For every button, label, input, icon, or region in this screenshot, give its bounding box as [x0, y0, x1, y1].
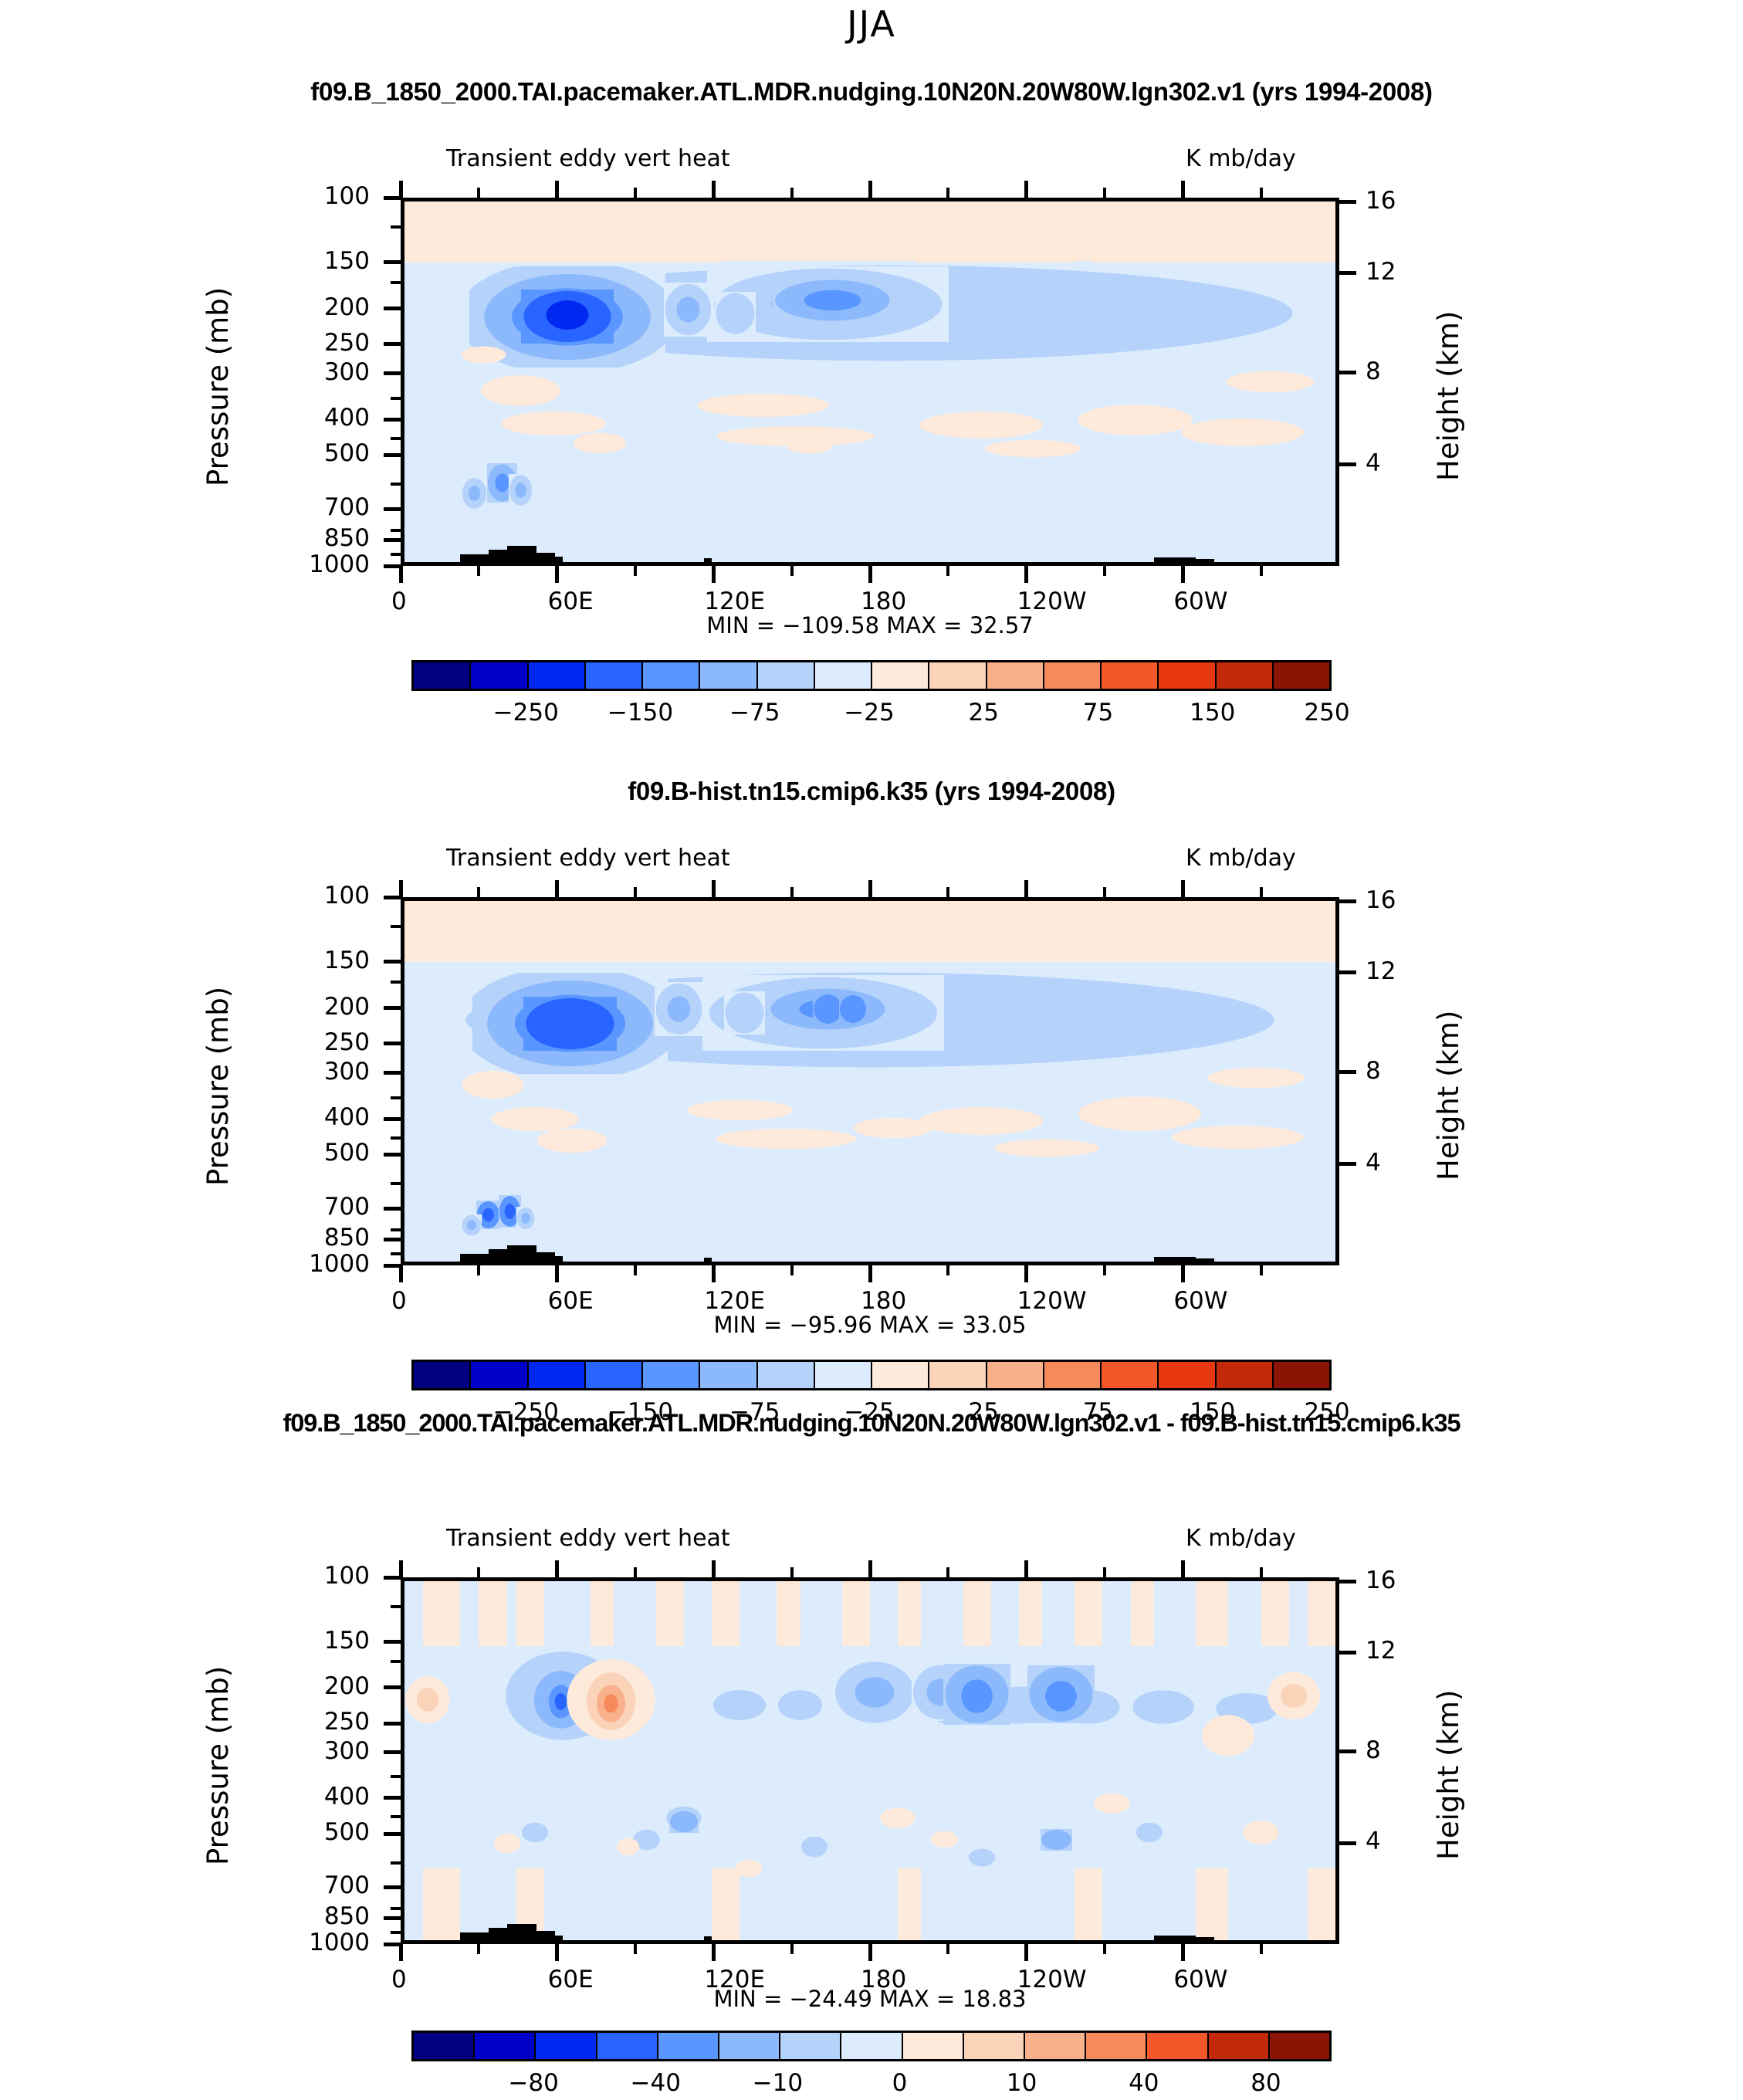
y-axis-tick-right	[1339, 1749, 1356, 1753]
y-axis-minor-tick-left	[391, 925, 401, 928]
y-axis-label-left: 500	[239, 439, 370, 467]
colorbar-tick-label: −75	[729, 699, 780, 727]
colorbar-segment	[964, 2033, 1025, 2059]
x-axis-tick-top	[1181, 880, 1185, 897]
y-axis-label-left: 1000	[239, 1250, 370, 1278]
x-axis-tick-bottom	[399, 1265, 403, 1282]
y-axis-label-left: 200	[239, 1672, 370, 1700]
contour-blob	[833, 1660, 917, 1725]
colorbar-tick-label: −40	[631, 2069, 681, 2097]
y-axis-tick-left	[384, 1238, 401, 1241]
x-axis-minor-tick-bottom	[634, 1265, 637, 1275]
colorbar-segment	[815, 662, 872, 689]
y-axis-minor-tick-left	[391, 225, 401, 229]
y-axis-tick-left	[384, 307, 401, 310]
y-axis-label-left: 400	[239, 1103, 370, 1131]
y-axis-label-left: 100	[239, 1562, 370, 1590]
x-axis-tick-bottom	[1181, 566, 1185, 583]
x-axis-tick-top	[868, 880, 872, 897]
x-axis-tick-bottom	[555, 1265, 559, 1282]
y-axis-label-left: 150	[239, 1627, 370, 1655]
x-axis-tick-top	[868, 181, 872, 198]
y-axis-tick-left	[384, 1750, 401, 1754]
contour-blob	[535, 1128, 609, 1153]
contour-blob	[786, 439, 832, 454]
x-axis-minor-tick-top	[946, 188, 949, 198]
y-axis-tick-right	[1339, 1162, 1356, 1166]
x-axis-tick-top	[555, 880, 559, 897]
y-axis-tick-right	[1339, 1580, 1356, 1583]
y-axis-tick-right	[1339, 1651, 1356, 1655]
x-axis-minor-tick-bottom	[477, 1944, 480, 1954]
x-axis-minor-tick-bottom	[946, 1944, 949, 1954]
contour-blob	[462, 1214, 482, 1236]
contour-blob	[479, 374, 563, 407]
x-axis-minor-tick-top	[1103, 1567, 1106, 1577]
y-axis-minor-tick-left	[391, 1907, 401, 1910]
y-axis-tick-right	[1339, 462, 1356, 466]
y-axis-tick-left	[384, 342, 401, 346]
colorbar-tick-label: 10	[1007, 2069, 1037, 2097]
x-axis-tick-top	[868, 1560, 872, 1577]
x-axis-tick-top	[1181, 1560, 1185, 1577]
x-axis-minor-tick	[1260, 1567, 1263, 1577]
y-axis-label-left: 1000	[239, 1929, 370, 1956]
topography-mask	[555, 1256, 563, 1262]
y-axis-label-right: 12	[1366, 957, 1396, 985]
colorbar-segment	[414, 662, 471, 689]
colorbar-tick-label: −150	[608, 699, 673, 727]
topography-mask	[536, 1252, 555, 1262]
contour-blob	[1093, 1793, 1130, 1814]
colorbar-segment	[1159, 1362, 1216, 1388]
colorbar-tick-label: −250	[493, 699, 559, 727]
x-axis-minor-tick-top	[946, 1567, 949, 1577]
colorbar-segment	[1217, 1362, 1274, 1388]
colorbar-segment	[780, 2033, 841, 2059]
colorbar-segment	[1044, 662, 1102, 689]
y-axis-label-left: 150	[239, 947, 370, 974]
x-axis-tick-bottom	[399, 1944, 403, 1961]
colorbar-segment	[700, 1362, 757, 1388]
colorbar-segment	[529, 1362, 586, 1388]
contour-blob	[523, 997, 617, 1051]
x-axis-tick-bottom	[555, 566, 559, 583]
y-axis-label-left: 700	[239, 1193, 370, 1221]
colorbar-segment	[586, 662, 643, 689]
colorbar-segment	[1274, 662, 1329, 689]
colorbar-tick-label: −25	[844, 699, 894, 727]
colorbar-labels-1: −250−150−75−252575150250	[411, 699, 1327, 730]
y-axis-tick-left	[384, 1796, 401, 1800]
colorbar-tick-label: −80	[508, 2069, 558, 2097]
min-max-annotation-1: MIN = −109.58 MAX = 32.57	[401, 612, 1339, 638]
x-axis-minor-tick-bottom	[477, 566, 480, 576]
x-axis-minor-tick-bottom	[1103, 566, 1106, 576]
x-axis-tick-bottom	[868, 1265, 872, 1282]
y-axis-label-right: 4	[1366, 1149, 1381, 1177]
x-axis-minor-tick-top	[477, 188, 480, 198]
plot-area-1[interactable]	[401, 198, 1339, 566]
colorbar-segment	[872, 662, 929, 689]
colorbar-tick-label: 75	[1083, 699, 1113, 727]
x-axis-label: 120W	[1017, 588, 1087, 615]
topography-mask	[1154, 1936, 1196, 1940]
contour-blob	[572, 432, 628, 454]
x-axis-tick-bottom	[712, 566, 716, 583]
x-axis-tick-bottom	[712, 1944, 716, 1961]
y-axis-tick-left	[384, 453, 401, 457]
contour-blob	[493, 1833, 521, 1854]
contour-blob	[1131, 1689, 1196, 1726]
x-axis-minor-tick-top	[634, 188, 637, 198]
y-axis-tick-left	[384, 418, 401, 422]
plot-area-2[interactable]	[401, 897, 1339, 1265]
x-axis-minor-tick-top	[790, 188, 794, 198]
x-axis-tick-bottom	[1024, 1265, 1028, 1282]
colorbar-segment	[1209, 2033, 1270, 2059]
y-axis-label-right: 4	[1366, 1827, 1381, 1855]
topography-mask	[704, 1936, 712, 1940]
x-axis-label: 60W	[1173, 1287, 1227, 1315]
colorbar-tick-label: 0	[892, 2069, 908, 2097]
contour-blob	[800, 1836, 828, 1858]
x-axis-minor-tick-top	[1103, 188, 1106, 198]
y-axis-tick-right	[1339, 1841, 1356, 1845]
x-axis-tick-top	[1024, 1560, 1028, 1577]
x-axis-tick-top	[555, 1560, 559, 1577]
y-axis-label-left: 300	[239, 1058, 370, 1086]
y-axis-label-left: 700	[239, 1871, 370, 1899]
y-axis-tick-left	[384, 1117, 401, 1121]
y-axis-label-right: 4	[1366, 449, 1381, 477]
x-axis-minor-tick-bottom	[1103, 1265, 1106, 1275]
y-axis-tick-left	[384, 1153, 401, 1157]
x-axis-minor-tick-top	[790, 887, 794, 897]
contour-band	[404, 901, 1335, 964]
topography-mask	[460, 1254, 488, 1262]
contour-blob	[404, 1675, 451, 1725]
y-axis-label-left: 500	[239, 1818, 370, 1846]
x-axis-label: 120W	[1017, 1287, 1087, 1315]
topography-mask	[489, 1249, 507, 1262]
y-axis-tick-right	[1339, 371, 1356, 374]
y-axis-label-left: 100	[239, 882, 370, 909]
y-axis-label-left: 1000	[239, 550, 370, 578]
x-axis-minor-tick-top	[634, 1567, 637, 1577]
x-axis-minor-tick-bottom	[1103, 1944, 1106, 1954]
panel-title-3: f09.B_1850_2000.TAI.pacemaker.ATL.MDR.nu…	[0, 1409, 1743, 1438]
x-axis-tick-top	[712, 181, 716, 198]
y-axis-label-left: 100	[239, 182, 370, 210]
x-axis-minor-tick-bottom	[790, 566, 794, 576]
y-axis-label-left: 850	[239, 1902, 370, 1930]
x-axis-tick-top	[1181, 181, 1185, 198]
contour-blob	[712, 1689, 767, 1722]
y-axis-tick-left	[384, 1685, 401, 1689]
colorbar-2[interactable]	[411, 1360, 1332, 1390]
contour-blob	[991, 1139, 1103, 1157]
x-axis-label: 180	[861, 588, 906, 615]
colorbar-segment	[1147, 2033, 1208, 2059]
contour-blob	[879, 1807, 916, 1829]
colorbar-segment	[815, 1362, 872, 1388]
panel-title-1: f09.B_1850_2000.TAI.pacemaker.ATL.MDR.nu…	[0, 77, 1743, 107]
colorbar-segment	[1217, 662, 1274, 689]
y-axis-minor-tick-left	[391, 553, 401, 556]
colorbar-segment	[529, 662, 586, 689]
x-axis-minor-tick	[1260, 188, 1263, 198]
x-axis-label: 120E	[704, 1287, 765, 1315]
season-title: JJA	[0, 3, 1743, 45]
colorbar-segment	[872, 1362, 929, 1388]
y-axis-minor-tick-left	[391, 1228, 401, 1231]
x-axis-minor-tick-bottom	[790, 1265, 794, 1275]
y-axis-minor-tick-left	[391, 1815, 401, 1818]
x-axis-minor-tick-bottom	[790, 1944, 794, 1954]
colorbar-segment	[586, 1362, 643, 1388]
y-axis-label-left: 150	[239, 247, 370, 275]
units-label-1: K mb/day	[1186, 145, 1296, 172]
x-axis-label: 60W	[1173, 588, 1227, 615]
x-axis-minor-tick-top	[1103, 887, 1106, 897]
y-axis-tick-left	[384, 1042, 401, 1045]
units-label-3: K mb/day	[1186, 1525, 1296, 1552]
y-axis-minor-tick-left	[391, 1252, 401, 1255]
y-axis-tick-right	[1339, 899, 1356, 903]
x-axis-tick-bottom	[868, 1944, 872, 1961]
topography-mask	[704, 558, 712, 562]
topography-mask	[555, 1936, 563, 1941]
y-axis-tick-left	[384, 1006, 401, 1010]
x-axis-tick-top	[399, 181, 403, 198]
contour-blob	[616, 1837, 640, 1855]
y-axis-label-left: 200	[239, 293, 370, 321]
topography-mask	[507, 1924, 537, 1940]
y-axis-tick-left	[384, 260, 401, 264]
contour-blob	[1041, 1829, 1072, 1851]
colorbar-segment	[475, 2033, 536, 2059]
x-axis-minor-tick-bottom	[946, 566, 949, 576]
colorbar-tick-label: −10	[753, 2069, 803, 2097]
y-axis-minor-tick-left	[391, 483, 401, 486]
y-axis-label-right: 16	[1366, 1567, 1396, 1594]
plot-area-3[interactable]	[401, 1577, 1339, 1944]
x-axis-tick-top	[1024, 880, 1028, 897]
x-axis-minor-tick	[1260, 566, 1263, 576]
x-axis-tick-bottom	[1024, 566, 1028, 583]
topography-mask	[507, 546, 537, 562]
y-axis-label-left: 250	[239, 1708, 370, 1736]
contour-blob	[1242, 1820, 1279, 1845]
y-axis-minor-tick-left	[391, 281, 401, 284]
colorbar-segment	[1102, 1362, 1159, 1388]
colorbar-segment	[414, 1362, 471, 1388]
x-axis-label: 180	[861, 1287, 906, 1315]
y-axis-minor-tick-left	[391, 1861, 401, 1865]
contour-blob	[712, 1128, 861, 1150]
colorbar-segment	[471, 1362, 528, 1388]
x-axis-label: 60E	[548, 588, 594, 615]
topography-mask	[536, 1931, 555, 1940]
y-axis-label-left: 300	[239, 1737, 370, 1765]
topography-mask	[489, 550, 507, 562]
y-axis-tick-left	[384, 960, 401, 964]
x-axis-label: 120E	[704, 588, 765, 615]
contour-blob	[777, 1689, 823, 1722]
contour-blob	[968, 1848, 996, 1866]
contour-blob	[1200, 1714, 1256, 1757]
colorbar-segment	[597, 2033, 658, 2059]
colorbar-segment	[1102, 662, 1159, 689]
colorbar-segment	[987, 1362, 1044, 1388]
x-axis-tick-top	[399, 880, 403, 897]
y-axis-label-left: 700	[239, 493, 370, 521]
contour-blob	[669, 1810, 699, 1834]
colorbar-segment	[1025, 2033, 1086, 2059]
contour-blob	[1266, 1671, 1322, 1721]
x-axis-minor-tick-top	[634, 887, 637, 897]
min-max-annotation-3: MIN = −24.49 MAX = 18.83	[401, 1986, 1339, 2012]
topography-mask	[460, 554, 488, 562]
x-axis-minor-tick-top	[790, 1567, 794, 1577]
topography-mask	[536, 553, 555, 562]
y-axis-title-right: Height (km)	[1432, 310, 1465, 480]
colorbar-segment	[1086, 2033, 1147, 2059]
colorbar-labels-3: −80−40−100104080	[411, 2069, 1327, 2100]
topography-mask	[507, 1245, 537, 1262]
colorbar-segment	[700, 662, 757, 689]
colorbar-tick-label: 250	[1304, 699, 1349, 727]
y-axis-label-right: 8	[1366, 357, 1381, 385]
contour-blob	[545, 300, 590, 330]
y-axis-minor-tick-left	[391, 1931, 401, 1934]
contour-blob	[460, 346, 506, 364]
y-axis-minor-tick-left	[391, 1605, 401, 1608]
x-axis-minor-tick-bottom	[634, 1944, 637, 1954]
colorbar-tick-label: 150	[1190, 699, 1235, 727]
contour-blob	[1135, 1822, 1163, 1844]
y-axis-tick-left	[384, 1640, 401, 1644]
colorbar-segment	[536, 2033, 597, 2059]
contour-blob	[772, 279, 893, 322]
x-axis-tick-bottom	[868, 566, 872, 583]
y-axis-label-right: 16	[1366, 187, 1396, 215]
x-axis-tick-bottom	[1181, 1944, 1185, 1961]
x-axis-tick-top	[1024, 181, 1028, 198]
x-axis-label: 60E	[548, 1287, 594, 1315]
x-axis-label: 0	[391, 588, 407, 615]
y-axis-label-left: 200	[239, 993, 370, 1021]
topography-mask	[1196, 1937, 1214, 1940]
colorbar-segment	[643, 662, 700, 689]
y-axis-label-left: 850	[239, 1224, 370, 1252]
x-axis-tick-bottom	[1181, 1265, 1185, 1282]
y-axis-label-right: 12	[1366, 258, 1396, 286]
y-axis-tick-right	[1339, 1070, 1356, 1074]
y-axis-tick-left	[384, 1071, 401, 1075]
y-axis-title-right: Height (km)	[1432, 1689, 1465, 1859]
topography-mask	[704, 1258, 712, 1262]
y-axis-label-right: 12	[1366, 1637, 1396, 1665]
colorbar-tick-label: 25	[969, 699, 999, 727]
x-axis-minor-tick	[1260, 1944, 1263, 1954]
colorbar-segment	[929, 1362, 987, 1388]
colorbar-segment	[643, 1362, 700, 1388]
contour-blob	[960, 1678, 993, 1715]
y-axis-label-left: 400	[239, 404, 370, 432]
x-axis-label: 0	[391, 1287, 407, 1315]
colorbar-segment	[471, 662, 528, 689]
colorbar-segment	[719, 2033, 780, 2059]
y-axis-label-left: 400	[239, 1783, 370, 1810]
y-axis-tick-left	[384, 1916, 401, 1920]
y-axis-title-right: Height (km)	[1432, 1010, 1465, 1180]
panel-title-2: f09.B-hist.tn15.cmip6.k35 (yrs 1994-2008…	[0, 777, 1743, 806]
contour-blob	[1177, 418, 1308, 446]
colorbar-segment	[1274, 1362, 1329, 1388]
colorbar-1[interactable]	[411, 660, 1332, 691]
y-axis-title-left: Pressure (mb)	[201, 286, 235, 486]
contour-blob	[684, 1099, 796, 1121]
colorbar-segment	[841, 2033, 902, 2059]
colorbar-3[interactable]	[411, 2031, 1332, 2061]
contour-blob	[1205, 1067, 1308, 1089]
colorbar-segment	[414, 2033, 475, 2059]
x-axis-tick-bottom	[712, 1265, 716, 1282]
x-axis-minor-tick-top	[477, 1567, 480, 1577]
colorbar-segment	[658, 2033, 719, 2059]
contour-blob	[1044, 1680, 1078, 1712]
contour-blob	[916, 411, 1047, 439]
x-axis-tick-top	[712, 1560, 716, 1577]
y-axis-tick-right	[1339, 200, 1356, 204]
y-axis-tick-right	[1339, 970, 1356, 974]
contour-blob	[509, 474, 533, 506]
colorbar-segment	[987, 662, 1044, 689]
contour-blob	[693, 393, 833, 418]
field-name-label-2: Transient eddy vert heat	[446, 845, 730, 872]
x-axis-tick-top	[399, 1560, 403, 1577]
colorbar-segment	[1159, 662, 1216, 689]
contour-blob	[1168, 1125, 1308, 1150]
y-axis-tick-right	[1339, 271, 1356, 275]
x-axis-minor-tick-bottom	[634, 566, 637, 576]
x-axis-minor-tick-bottom	[946, 1265, 949, 1275]
topography-mask	[1154, 1257, 1196, 1262]
contour-blob	[521, 1822, 549, 1844]
contour-blob	[664, 283, 712, 337]
y-axis-title-left: Pressure (mb)	[201, 1665, 235, 1865]
y-axis-minor-tick-left	[391, 529, 401, 532]
y-axis-label-left: 250	[239, 1028, 370, 1056]
y-axis-minor-tick-left	[391, 1182, 401, 1185]
colorbar-segment	[1270, 2033, 1329, 2059]
contour-blob	[916, 1106, 1047, 1135]
topography-mask	[460, 1932, 488, 1940]
contour-blob	[516, 1207, 535, 1230]
contour-blob	[724, 991, 765, 1035]
field-name-label-3: Transient eddy vert heat	[446, 1525, 730, 1552]
y-axis-minor-tick-left	[391, 397, 401, 400]
x-axis-minor-tick-top	[477, 887, 480, 897]
y-axis-tick-left	[384, 1722, 401, 1726]
units-label-2: K mb/day	[1186, 845, 1296, 872]
x-axis-tick-top	[555, 181, 559, 198]
field-name-label-1: Transient eddy vert heat	[446, 145, 730, 172]
y-axis-label-right: 8	[1366, 1736, 1381, 1764]
contour-blob	[982, 439, 1085, 457]
